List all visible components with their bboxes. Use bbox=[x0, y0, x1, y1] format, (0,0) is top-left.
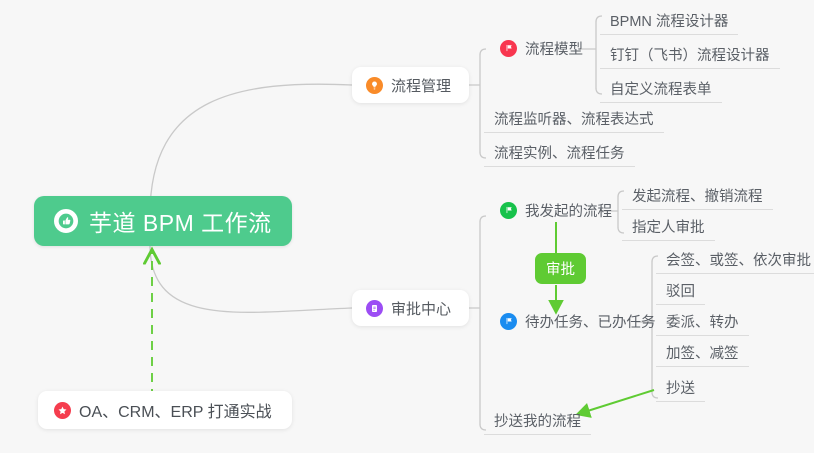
node-reject[interactable]: 驳回 bbox=[656, 280, 705, 305]
lightbulb-icon bbox=[366, 77, 383, 94]
callout-node[interactable]: OA、CRM、ERP 打通实战 bbox=[38, 391, 292, 429]
node-label: 会签、或签、依次审批 bbox=[666, 249, 811, 270]
node-cc[interactable]: 抄送 bbox=[656, 377, 705, 402]
node-label: 驳回 bbox=[666, 280, 695, 301]
node-label: 抄送我的流程 bbox=[494, 410, 581, 431]
node-custom-process-form[interactable]: 自定义流程表单 bbox=[600, 78, 722, 103]
approval-tag-label: 审批 bbox=[546, 258, 575, 279]
flag-icon bbox=[500, 202, 517, 219]
node-countersign-orsign-sequential[interactable]: 会签、或签、依次审批 bbox=[656, 249, 814, 274]
callout-label: OA、CRM、ERP 打通实战 bbox=[79, 398, 272, 422]
star-icon bbox=[54, 402, 71, 419]
node-process-model[interactable]: 流程模型 bbox=[492, 37, 593, 62]
branch-label: 审批中心 bbox=[391, 298, 451, 319]
node-bpmn-designer[interactable]: BPMN 流程设计器 bbox=[600, 10, 738, 35]
node-delegate-transfer[interactable]: 委派、转办 bbox=[656, 311, 749, 336]
node-label: 抄送 bbox=[666, 377, 695, 398]
node-dingtalk-feishu-designer[interactable]: 钉钉（飞书）流程设计器 bbox=[600, 44, 780, 69]
node-label: 流程模型 bbox=[525, 38, 583, 59]
node-cc-to-me-process[interactable]: 抄送我的流程 bbox=[484, 410, 591, 435]
node-label: 指定人审批 bbox=[632, 216, 705, 237]
thumbs-up-icon bbox=[54, 209, 78, 233]
node-label: 流程实例、流程任务 bbox=[494, 142, 625, 163]
node-label: 加签、减签 bbox=[666, 342, 739, 363]
mindmap-canvas: 芋道 BPM 工作流 OA、CRM、ERP 打通实战 流程管理 bbox=[0, 0, 814, 453]
branch-label: 流程管理 bbox=[391, 75, 451, 96]
node-label: 钉钉（飞书）流程设计器 bbox=[610, 44, 770, 65]
root-node[interactable]: 芋道 BPM 工作流 bbox=[34, 196, 292, 246]
node-todo-done-tasks[interactable]: 待办任务、已办任务 bbox=[492, 310, 666, 335]
approval-tag[interactable]: 审批 bbox=[535, 253, 586, 284]
node-start-cancel-process[interactable]: 发起流程、撤销流程 bbox=[622, 185, 773, 210]
node-label: 待办任务、已办任务 bbox=[525, 311, 656, 332]
node-label: 委派、转办 bbox=[666, 311, 739, 332]
node-process-listener-expression[interactable]: 流程监听器、流程表达式 bbox=[484, 108, 664, 133]
node-label: BPMN 流程设计器 bbox=[610, 10, 728, 31]
branch-process-management[interactable]: 流程管理 bbox=[352, 67, 469, 103]
node-add-remove-sign[interactable]: 加签、减签 bbox=[656, 342, 749, 367]
node-process-instance-task[interactable]: 流程实例、流程任务 bbox=[484, 142, 635, 167]
node-my-initiated-process[interactable]: 我发起的流程 bbox=[492, 199, 622, 224]
flag-icon bbox=[500, 313, 517, 330]
branch-approval-center[interactable]: 审批中心 bbox=[352, 290, 469, 326]
node-label: 流程监听器、流程表达式 bbox=[494, 108, 654, 129]
flag-icon bbox=[500, 40, 517, 57]
node-label: 自定义流程表单 bbox=[610, 78, 712, 99]
node-assignee-approval[interactable]: 指定人审批 bbox=[622, 216, 715, 241]
node-label: 我发起的流程 bbox=[525, 200, 612, 221]
root-label: 芋道 BPM 工作流 bbox=[89, 204, 272, 238]
node-label: 发起流程、撤销流程 bbox=[632, 185, 763, 206]
clipboard-icon bbox=[366, 300, 383, 317]
